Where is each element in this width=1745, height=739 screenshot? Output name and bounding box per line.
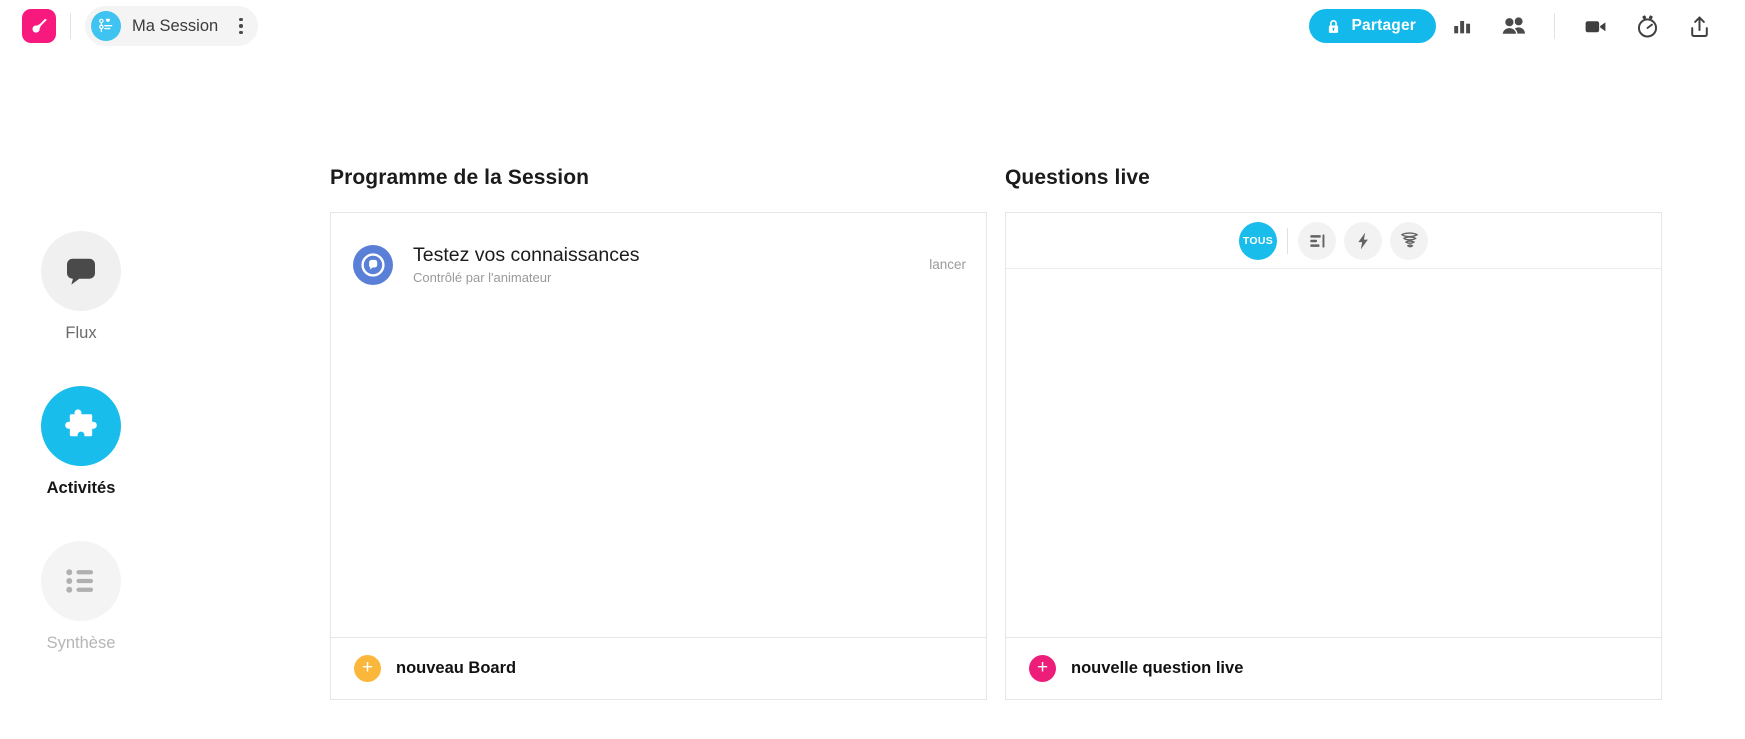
questions-filter-bar: TOUS bbox=[1006, 213, 1661, 269]
sidebar-icon-wrap-activites bbox=[41, 386, 121, 466]
questions-live-column: Questions live TOUS bbox=[1005, 166, 1662, 700]
activity-subtitle: Contrôlé par l'animateur bbox=[413, 270, 640, 285]
sidebar-icon-wrap-flux bbox=[41, 231, 121, 311]
sidebar-label-flux: Flux bbox=[65, 324, 96, 343]
plus-icon: + bbox=[354, 655, 381, 682]
video-button[interactable] bbox=[1569, 4, 1621, 48]
results-bar-chart-icon bbox=[1451, 15, 1473, 37]
new-live-question-label: nouvelle question live bbox=[1071, 659, 1243, 678]
topbar-divider-2 bbox=[1554, 13, 1555, 39]
results-button[interactable] bbox=[1436, 4, 1488, 48]
new-board-button[interactable]: + nouveau Board bbox=[330, 638, 987, 700]
puzzle-piece-icon bbox=[59, 404, 103, 448]
programme-panel: Testez vos connaissances Contrôlé par l'… bbox=[330, 212, 987, 638]
activity-launch-link[interactable]: lancer bbox=[929, 257, 966, 272]
session-pill[interactable]: Ma Session bbox=[85, 6, 258, 46]
topbar-actions: Partager bbox=[1309, 4, 1745, 48]
lock-icon bbox=[1325, 18, 1342, 35]
export-button[interactable] bbox=[1673, 4, 1725, 48]
sidebar-item-flux[interactable]: Flux bbox=[41, 231, 121, 343]
lightning-bolt-icon bbox=[1353, 231, 1373, 251]
session-agenda-icon bbox=[97, 17, 116, 36]
filter-divider bbox=[1287, 228, 1288, 254]
activity-icon-wrap bbox=[353, 245, 393, 285]
filter-quick-question-button[interactable] bbox=[1344, 222, 1382, 260]
new-live-question-button[interactable]: + nouvelle question live bbox=[1005, 638, 1662, 700]
speech-bubble-circle-icon bbox=[360, 252, 386, 278]
sidebar-item-activites[interactable]: Activités bbox=[41, 386, 121, 498]
filter-all-button[interactable]: TOUS bbox=[1239, 222, 1277, 260]
video-camera-icon bbox=[1583, 14, 1608, 39]
topbar-divider bbox=[70, 13, 71, 39]
filter-poll-button[interactable] bbox=[1298, 222, 1336, 260]
list-icon bbox=[60, 560, 102, 602]
programme-title: Programme de la Session bbox=[330, 166, 987, 190]
programme-column: Programme de la Session Testez vos conna… bbox=[330, 166, 987, 700]
activity-card[interactable]: Testez vos connaissances Contrôlé par l'… bbox=[331, 213, 986, 295]
beekast-logo-icon bbox=[29, 16, 50, 37]
participants-people-icon bbox=[1501, 13, 1527, 39]
top-bar: Ma Session Partager bbox=[0, 0, 1745, 52]
questions-live-title: Questions live bbox=[1005, 166, 1662, 190]
filter-word-cloud-button[interactable] bbox=[1390, 222, 1428, 260]
share-button-label: Partager bbox=[1352, 17, 1417, 35]
participants-button[interactable] bbox=[1488, 4, 1540, 48]
export-upload-icon bbox=[1687, 14, 1712, 39]
app-logo[interactable] bbox=[22, 9, 56, 43]
timer-button[interactable] bbox=[1621, 4, 1673, 48]
sidebar: Flux Activités Synthèse bbox=[0, 52, 162, 739]
sidebar-label-synthese: Synthèse bbox=[47, 634, 116, 653]
sidebar-item-synthese[interactable]: Synthèse bbox=[41, 541, 121, 653]
word-cloud-tornado-icon bbox=[1399, 230, 1420, 251]
kebab-menu-icon[interactable] bbox=[232, 15, 250, 37]
poll-bars-icon bbox=[1307, 231, 1327, 251]
timer-stopwatch-icon bbox=[1635, 14, 1660, 39]
session-avatar bbox=[91, 11, 121, 41]
sidebar-icon-wrap-synthese bbox=[41, 541, 121, 621]
questions-live-panel: TOUS bbox=[1005, 212, 1662, 638]
chat-bubble-icon bbox=[60, 250, 102, 292]
plus-icon: + bbox=[1029, 655, 1056, 682]
new-board-label: nouveau Board bbox=[396, 659, 516, 678]
activity-text: Testez vos connaissances Contrôlé par l'… bbox=[413, 244, 640, 284]
share-button[interactable]: Partager bbox=[1309, 9, 1437, 43]
activity-title: Testez vos connaissances bbox=[413, 244, 640, 266]
sidebar-label-activites: Activités bbox=[47, 479, 116, 498]
session-name: Ma Session bbox=[132, 17, 218, 36]
